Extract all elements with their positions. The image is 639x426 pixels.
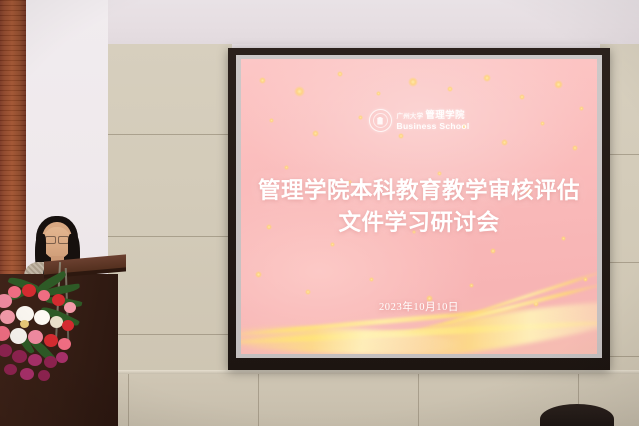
- presentation-photo-scene: 广州大学管理学院 Business School 管理学院本科教育教学审核评估 …: [0, 0, 639, 426]
- wall-panel-left: [108, 44, 232, 426]
- logo-institution-mark: 广州大学: [397, 113, 424, 120]
- slide-title-block: 管理学院本科教育教学审核评估 文件学习研讨会: [241, 177, 597, 237]
- logo-school-cn: 管理学院: [425, 110, 465, 121]
- university-seal-icon: [369, 109, 392, 132]
- projected-slide: 广州大学管理学院 Business School 管理学院本科教育教学审核评估 …: [241, 59, 597, 354]
- logo-english-name: Business School: [397, 122, 470, 131]
- screen-bezel: 广州大学管理学院 Business School 管理学院本科教育教学审核评估 …: [236, 55, 602, 358]
- projection-screen-frame: 广州大学管理学院 Business School 管理学院本科教育教学审核评估 …: [228, 48, 610, 370]
- glasses-icon: [45, 236, 69, 242]
- floral-arrangement: [0, 276, 110, 394]
- slide-title-line-2: 文件学习研讨会: [241, 209, 597, 237]
- audience-member-head: [540, 404, 614, 426]
- slide-date: 2023年10月10日: [241, 299, 597, 314]
- logo-chinese-name: 广州大学管理学院: [397, 111, 470, 121]
- slide-title-line-1: 管理学院本科教育教学审核评估: [241, 177, 597, 205]
- slide-logo: 广州大学管理学院 Business School: [241, 109, 597, 132]
